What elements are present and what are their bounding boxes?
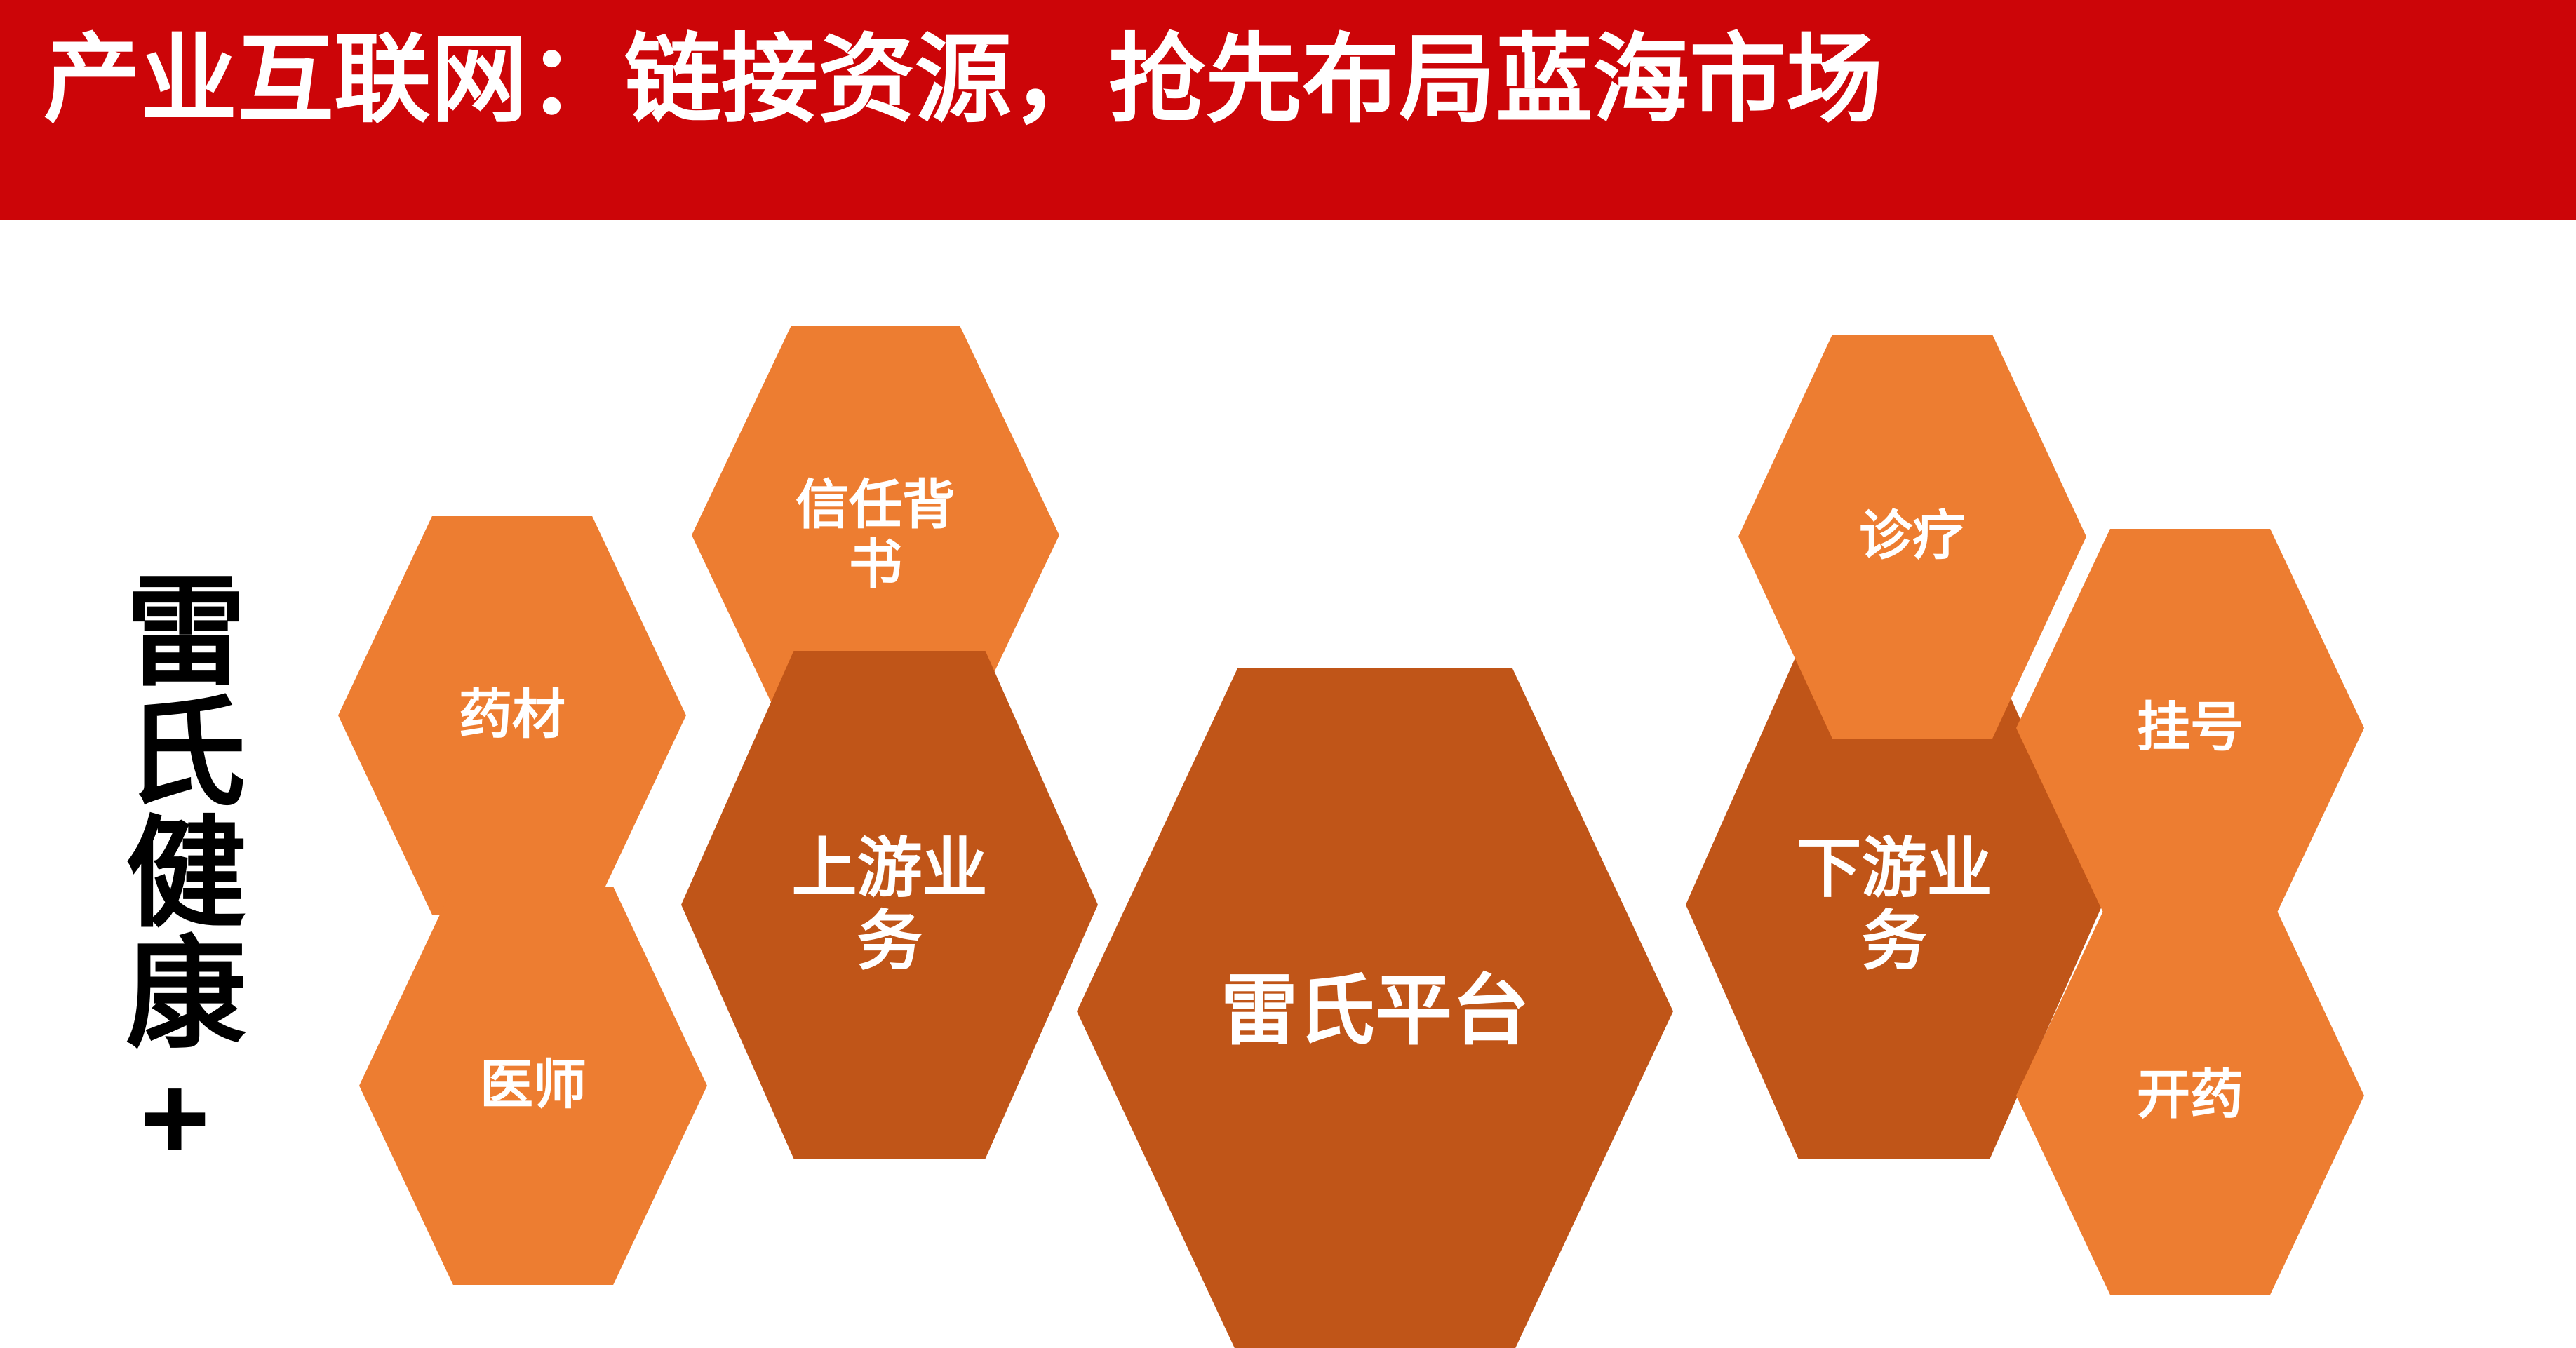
- hexagon-physician[interactable]: [359, 887, 707, 1285]
- hexagon-leishi-platform[interactable]: [1077, 668, 1673, 1348]
- slide-canvas: 产业互联网：链接资源，抢先布局蓝海市场 雷氏健康+ 信任背书药材医师上游业务雷氏…: [0, 0, 2576, 1348]
- hexagon-herbal-materials[interactable]: [338, 516, 686, 915]
- hexagon-diagram: [0, 0, 2576, 1348]
- hexagon-upstream-business[interactable]: [681, 651, 1098, 1159]
